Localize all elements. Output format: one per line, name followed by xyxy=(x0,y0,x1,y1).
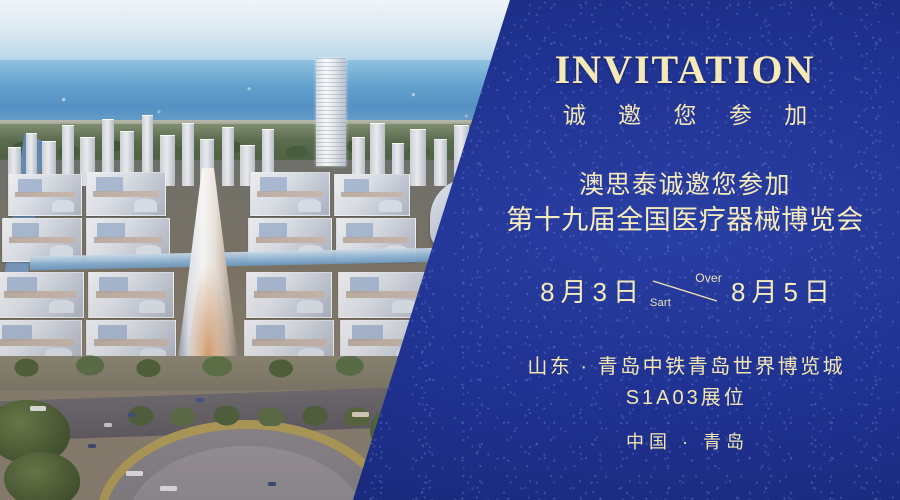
event-dateline: 8月3日 Sart Over 8月5日 xyxy=(470,272,900,309)
car xyxy=(88,444,96,448)
bus xyxy=(352,412,369,417)
plaza-tree-row xyxy=(120,404,380,426)
invitation-content: INVITATION 诚 邀 您 参 加 澳思泰诚邀您参加 第十九届全国医疗器械… xyxy=(470,0,900,500)
headline-line-2: 第十九届全国医疗器械博览会 xyxy=(470,203,900,238)
end-date: 8月5日 xyxy=(725,272,836,309)
invitation-banner: INVITATION 诚 邀 您 参 加 澳思泰诚邀您参加 第十九届全国医疗器械… xyxy=(0,0,900,500)
date-range-separator: Sart Over xyxy=(647,274,723,308)
page-title: INVITATION xyxy=(470,46,900,93)
venue-block: 山东 · 青岛中铁青岛世界博览城 S1A03展位 xyxy=(470,352,900,414)
car xyxy=(104,423,112,427)
car xyxy=(268,482,276,486)
headline-line-1: 澳思泰诚邀您参加 xyxy=(470,168,900,203)
car xyxy=(196,398,204,402)
bus xyxy=(126,471,143,476)
venue-address: 山东 · 青岛中铁青岛世界博览城 xyxy=(470,352,900,383)
page-subtitle: 诚 邀 您 参 加 xyxy=(470,96,900,130)
city-line: 中国 · 青岛 xyxy=(470,428,900,454)
end-label: Over xyxy=(695,271,722,285)
headline: 澳思泰诚邀您参加 第十九届全国医疗器械博览会 xyxy=(470,168,900,238)
venue-booth: S1A03展位 xyxy=(470,383,900,414)
start-date: 8月3日 xyxy=(534,272,645,309)
start-label: Sart xyxy=(650,297,671,309)
bus xyxy=(30,406,46,411)
car xyxy=(128,413,136,417)
bus xyxy=(160,486,177,491)
landmark-skyscraper xyxy=(316,58,346,166)
